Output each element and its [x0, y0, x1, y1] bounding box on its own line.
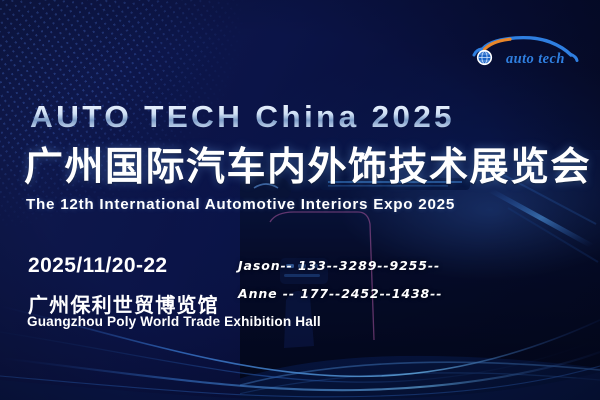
title-chinese: 广州国际汽车内外饰技术展览会	[24, 147, 591, 189]
contact-anne: Anne -- 177--2452--1438--	[238, 286, 442, 301]
subtitle-english: The 12th International Automotive Interi…	[26, 196, 455, 213]
title-english: AUTO TECH China 2025	[30, 101, 455, 132]
event-date: 2025/11/20-22	[28, 254, 168, 278]
venue-english: Guangzhou Poly World Trade Exhibition Ha…	[27, 314, 321, 329]
auto-tech-expo-poster: auto tech AUTO TECH China 2025 广州国际汽车内外饰…	[0, 0, 600, 400]
poster-text-content: AUTO TECH China 2025 广州国际汽车内外饰技术展览会 The …	[0, 0, 600, 400]
contact-jason: Jason-- 133--3289--9255--	[238, 258, 440, 273]
